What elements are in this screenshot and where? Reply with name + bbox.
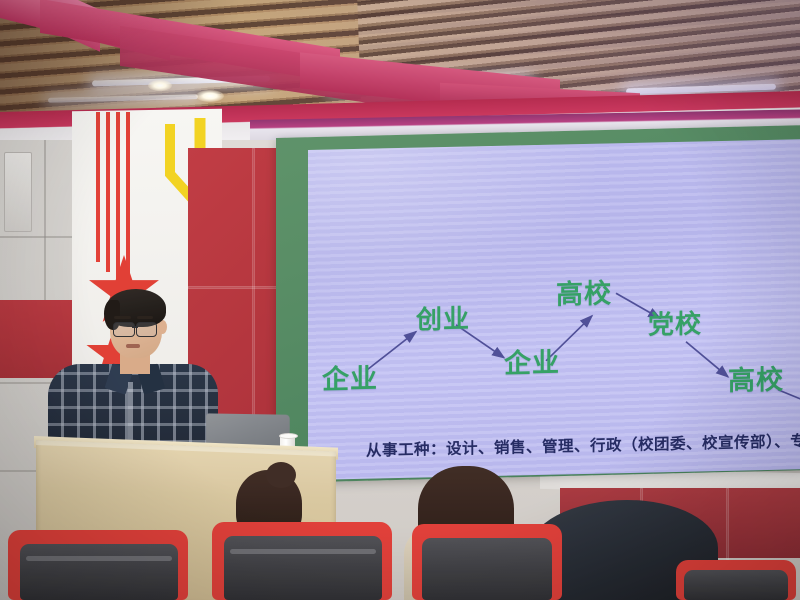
chair-left[interactable] bbox=[8, 530, 188, 600]
red-stripe-1 bbox=[96, 112, 100, 262]
lecture-hall-scene: 企业 创业 企业 高校 党校 高校 从事工种：设计、销售、管理、行政（校团委、校… bbox=[0, 0, 800, 600]
chair-left-back bbox=[20, 544, 178, 600]
far-red-seam-2 bbox=[726, 488, 729, 560]
slide-node-qiye-2: 企业 bbox=[504, 341, 560, 381]
chair-center[interactable] bbox=[212, 522, 392, 600]
eyeglasses-right-lens bbox=[136, 322, 157, 337]
arrow-5 bbox=[686, 341, 728, 378]
red-stripe-2 bbox=[106, 112, 110, 272]
chair-left-bar bbox=[26, 556, 172, 561]
slide-arrows bbox=[308, 139, 800, 480]
chair-right[interactable] bbox=[412, 524, 562, 600]
ceiling-downlight-1 bbox=[148, 80, 172, 91]
eyeglasses-left-lens bbox=[113, 322, 135, 337]
chair-center-bar bbox=[230, 549, 376, 554]
slide-node-gaoxiao-2: 高校 bbox=[728, 358, 784, 398]
chair-far-right-back bbox=[684, 570, 788, 600]
chair-far-right[interactable] bbox=[676, 560, 796, 600]
paper-cup-rim bbox=[279, 433, 298, 439]
wall-speaker bbox=[4, 152, 32, 232]
ceiling-downlight-4 bbox=[196, 90, 224, 102]
wall-seam-vert bbox=[44, 140, 46, 320]
slide-node-qiye-1: 企业 bbox=[322, 356, 378, 396]
projection-screen[interactable]: 企业 创业 企业 高校 党校 高校 从事工种：设计、销售、管理、行政（校团委、校… bbox=[308, 139, 800, 480]
eyeglasses-bridge bbox=[132, 326, 138, 328]
slide-node-chuangye: 创业 bbox=[416, 298, 470, 336]
presenter-mouth bbox=[126, 344, 140, 348]
chair-right-back bbox=[422, 538, 552, 600]
attendee-1-hair-bun bbox=[266, 462, 296, 488]
chair-center-back bbox=[224, 536, 382, 600]
presenter-eyebrow-right bbox=[137, 316, 153, 319]
slide-node-dangxiao: 党校 bbox=[648, 303, 702, 341]
presenter-eyebrow-left bbox=[114, 316, 131, 319]
slide-node-gaoxiao-1: 高校 bbox=[556, 271, 612, 311]
